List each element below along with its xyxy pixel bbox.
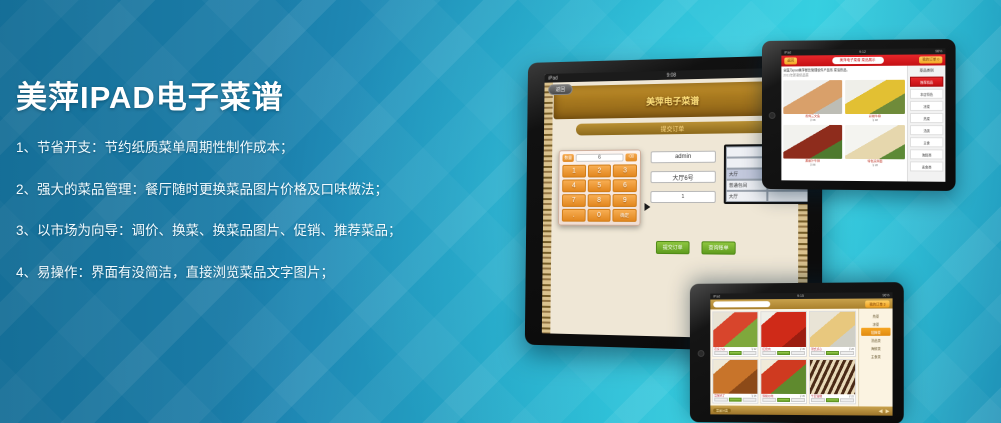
sidebar-caption: 菜品类别 bbox=[910, 68, 943, 73]
dish-card[interactable]: 特色凉拌面 ￥28 bbox=[845, 125, 905, 167]
plus-button[interactable] bbox=[840, 398, 854, 402]
feature-item-2: 2、强大的菜品管理：餐厅随时更换菜品图片价格及口味做法； bbox=[16, 183, 486, 197]
dish-area: 全国乃ipad美萍餐饮管理软件产品系 菜油热品。 2011年新款精品菜 香烤三文… bbox=[781, 66, 907, 182]
dish-actions bbox=[761, 398, 806, 403]
key-1[interactable]: 1 bbox=[562, 165, 585, 178]
minus-button[interactable] bbox=[762, 351, 776, 355]
feature-item-3: 3、以市场为向导：调价、换菜、换菜品图片、促销、推荐菜品； bbox=[16, 224, 486, 238]
my-order-button[interactable]: 我的订单 0 bbox=[919, 56, 942, 63]
minus-button[interactable] bbox=[714, 398, 727, 402]
keypad-display-row: 数量 6 ⌫ bbox=[562, 153, 637, 162]
key-confirm[interactable]: 确定 bbox=[613, 209, 637, 222]
add-to-order-button[interactable] bbox=[826, 350, 840, 354]
feature-list: 1、节省开支：节约纸质菜单周期性制作成本； 2、强大的菜品管理：餐厅随时更换菜品… bbox=[16, 141, 486, 279]
marketing-copy: 美萍IPAD电子菜谱 1、节省开支：节约纸质菜单周期性制作成本； 2、强大的菜品… bbox=[16, 72, 486, 307]
status-carrier: iPad bbox=[784, 51, 791, 55]
footer-tag: 菜品分类 bbox=[713, 408, 731, 412]
app-title-banner: 美萍电子菜谱 bbox=[553, 81, 797, 120]
category-item[interactable]: 主食类 bbox=[861, 352, 890, 360]
dish-photo bbox=[845, 125, 905, 159]
key-7[interactable]: 7 bbox=[562, 194, 585, 207]
my-order-button[interactable]: 我的订单 3 bbox=[865, 300, 889, 307]
dish-actions bbox=[713, 351, 757, 356]
prev-page-icon[interactable]: ◀ bbox=[879, 408, 883, 414]
category-item[interactable]: 汤类 bbox=[910, 125, 943, 135]
keypad-display[interactable]: 6 bbox=[576, 154, 624, 162]
category-item[interactable]: 本店特色 bbox=[910, 89, 943, 99]
submit-order-bar[interactable]: 提交订单 bbox=[576, 121, 773, 136]
dish-card[interactable]: 农家小炒 ￥32 bbox=[712, 311, 758, 356]
status-battery: 98% bbox=[935, 49, 942, 53]
table-row[interactable]: 大厅 bbox=[726, 191, 808, 202]
tablet-tr-screen: iPad 9:12 98% 返回 美萍电子菜谱 菜品展示 我的订单 0 全国乃i… bbox=[781, 48, 945, 182]
search-input[interactable] bbox=[713, 301, 770, 307]
key-6[interactable]: 6 bbox=[613, 179, 637, 192]
key-0[interactable]: 0 bbox=[587, 209, 611, 222]
dish-photo bbox=[810, 312, 855, 347]
plus-button[interactable] bbox=[791, 350, 805, 354]
status-carrier: iPad bbox=[713, 295, 720, 299]
keypad-keys: 1 2 3 4 5 6 7 8 9 . 0 确定 bbox=[562, 164, 637, 222]
dish-actions bbox=[713, 398, 757, 403]
keypad-label: 数量 bbox=[562, 154, 573, 162]
minus-button[interactable] bbox=[811, 350, 825, 354]
submit-order-button[interactable]: 提交订单 bbox=[656, 241, 690, 254]
status-time: 9:12 bbox=[859, 50, 866, 54]
dish-grid: 农家小炒 ￥32 红烧肉 ￥45 bbox=[710, 309, 858, 407]
username-field[interactable]: admin bbox=[651, 151, 716, 164]
dish-photo bbox=[713, 359, 757, 393]
feature-item-1: 1、节省开支：节约纸质菜单周期性制作成本； bbox=[16, 141, 486, 155]
category-item[interactable]: 海鲜类 bbox=[861, 344, 890, 352]
home-button[interactable] bbox=[769, 112, 776, 119]
dish-card[interactable]: 黑椒汁牛排 ￥88 bbox=[783, 124, 842, 166]
promo-note-line1: 全国乃ipad美萍餐饮管理软件产品系 菜油热品。 bbox=[783, 68, 849, 72]
dish-price: ￥48 bbox=[845, 118, 905, 122]
promo-note: 全国乃ipad美萍餐饮管理软件产品系 菜油热品。 2011年新款精品菜 bbox=[783, 68, 905, 78]
dish-card[interactable]: 宫保鸡丁 ￥38 bbox=[712, 358, 758, 403]
app-title: 美萍电子菜谱 bbox=[646, 93, 699, 107]
query-bill-button[interactable]: 查询账单 bbox=[701, 241, 735, 254]
next-page-icon[interactable]: ▶ bbox=[886, 408, 890, 414]
dish-photo bbox=[761, 359, 806, 394]
dish-price: ￥28 bbox=[845, 163, 905, 167]
status-time: 9:15 bbox=[797, 294, 804, 298]
add-to-order-button[interactable] bbox=[777, 351, 791, 355]
dish-card[interactable]: 港式点心 ￥26 bbox=[809, 311, 856, 357]
dish-browser: 农家小炒 ￥32 红烧肉 ￥45 bbox=[710, 309, 892, 407]
backspace-icon[interactable]: ⌫ bbox=[625, 153, 637, 161]
dish-photo bbox=[810, 360, 855, 395]
dish-browser: 全国乃ipad美萍餐饮管理软件产品系 菜油热品。 2011年新款精品菜 香烤三文… bbox=[781, 65, 945, 181]
promo-note-line2: 2011年新款精品菜 bbox=[783, 73, 808, 77]
count-field[interactable]: 1 bbox=[650, 191, 715, 203]
pagination-controls: ◀ ▶ bbox=[879, 408, 890, 414]
minus-button[interactable] bbox=[762, 398, 776, 402]
tablet-br-screen: iPad 9:15 96% 我的订单 3 农家小炒 ￥32 bbox=[710, 292, 892, 415]
promo-banner: 美萍IPAD电子菜谱 1、节省开支：节约纸质菜单周期性制作成本； 2、强大的菜品… bbox=[0, 0, 1001, 423]
dish-card[interactable]: 辣椒炒肉 ￥35 bbox=[760, 358, 807, 404]
table-field[interactable]: 大厅6号 bbox=[651, 171, 716, 183]
login-fields: admin 大厅6号 1 bbox=[650, 151, 716, 211]
category-item[interactable]: 凉菜 bbox=[861, 320, 890, 328]
app-footer-bar: 菜品分类 ◀ ▶ bbox=[710, 405, 892, 415]
category-sidebar: 热菜 凉菜 招牌菜 汤品类 海鲜类 主食类 bbox=[858, 309, 892, 407]
status-battery: 96% bbox=[882, 293, 889, 297]
dish-photo bbox=[845, 79, 905, 113]
dish-grid: 香烤三文鱼 ￥68 彩椒牛柳 ￥48 黑椒汁牛排 ￥88 bbox=[783, 79, 905, 167]
add-to-order-button[interactable] bbox=[777, 398, 791, 402]
home-button[interactable] bbox=[698, 350, 705, 357]
add-to-order-button[interactable] bbox=[826, 398, 840, 402]
tablet-device-top-right: iPad 9:12 98% 返回 美萍电子菜谱 菜品展示 我的订单 0 全国乃i… bbox=[762, 39, 956, 191]
dish-card[interactable]: 红烧肉 ￥45 bbox=[760, 311, 807, 357]
category-item[interactable]: 汤品类 bbox=[861, 336, 890, 344]
feature-item-4: 4、易操作：界面有没简洁，直接浏览菜品文字图片； bbox=[16, 266, 486, 280]
dish-actions bbox=[810, 398, 855, 403]
plus-button[interactable] bbox=[743, 351, 756, 355]
category-item[interactable]: 热菜 bbox=[861, 312, 890, 320]
minus-button[interactable] bbox=[811, 398, 825, 402]
dish-card[interactable]: 千层蛋糕 ￥22 bbox=[809, 359, 856, 405]
dish-actions bbox=[761, 350, 806, 355]
dish-price: ￥68 bbox=[783, 118, 842, 122]
dish-photo bbox=[761, 312, 806, 347]
minus-button[interactable] bbox=[714, 351, 727, 355]
category-item[interactable]: 海鲜类 bbox=[910, 149, 943, 159]
tablet-device-bottom-right: iPad 9:15 96% 我的订单 3 农家小炒 ￥32 bbox=[690, 282, 904, 423]
dish-photo bbox=[783, 80, 842, 114]
key-9[interactable]: 9 bbox=[613, 194, 637, 207]
plus-button[interactable] bbox=[743, 398, 756, 402]
key-dot[interactable]: . bbox=[562, 209, 586, 222]
dish-price: ￥88 bbox=[783, 162, 842, 166]
status-time: 9:08 bbox=[667, 72, 677, 78]
key-2[interactable]: 2 bbox=[588, 165, 612, 178]
cell-table bbox=[767, 191, 807, 202]
add-to-order-button[interactable] bbox=[729, 398, 742, 402]
page-title: 美萍IPAD电子菜谱 bbox=[16, 72, 486, 117]
action-buttons: 提交订单 查询账单 bbox=[656, 241, 736, 255]
category-item-selected[interactable]: 推荐精品 bbox=[910, 77, 943, 87]
key-8[interactable]: 8 bbox=[587, 194, 611, 207]
header-title: 美萍电子菜谱 菜品展示 bbox=[832, 57, 884, 64]
category-sidebar: 菜品类别 推荐精品 本店特色 凉菜 热菜 汤类 主食 海鲜类 素食类 bbox=[907, 65, 945, 181]
dish-actions bbox=[810, 350, 855, 355]
category-item-selected[interactable]: 招牌菜 bbox=[861, 328, 890, 336]
category-item[interactable]: 热菜 bbox=[910, 113, 943, 123]
category-item[interactable]: 凉菜 bbox=[910, 101, 943, 111]
category-item[interactable]: 素食类 bbox=[910, 161, 943, 171]
numeric-keypad[interactable]: 数量 6 ⌫ 1 2 3 4 5 6 7 8 bbox=[558, 149, 641, 225]
back-button[interactable]: 返回 bbox=[548, 84, 573, 95]
header-back-button[interactable]: 返回 bbox=[784, 57, 797, 64]
key-5[interactable]: 5 bbox=[587, 179, 611, 192]
key-3[interactable]: 3 bbox=[613, 164, 637, 177]
dish-card[interactable]: 彩椒牛柳 ￥48 bbox=[845, 79, 905, 121]
key-4[interactable]: 4 bbox=[562, 179, 585, 192]
dish-photo bbox=[713, 312, 757, 346]
plus-button[interactable] bbox=[791, 398, 805, 402]
dish-card[interactable]: 香烤三文鱼 ￥68 bbox=[783, 80, 842, 122]
add-to-order-button[interactable] bbox=[729, 351, 742, 355]
status-carrier: iPad bbox=[548, 75, 557, 81]
cell-area: 大厅 bbox=[726, 191, 768, 202]
plus-button[interactable] bbox=[840, 350, 854, 354]
category-item[interactable]: 主食 bbox=[910, 137, 943, 147]
dish-photo bbox=[783, 124, 842, 158]
